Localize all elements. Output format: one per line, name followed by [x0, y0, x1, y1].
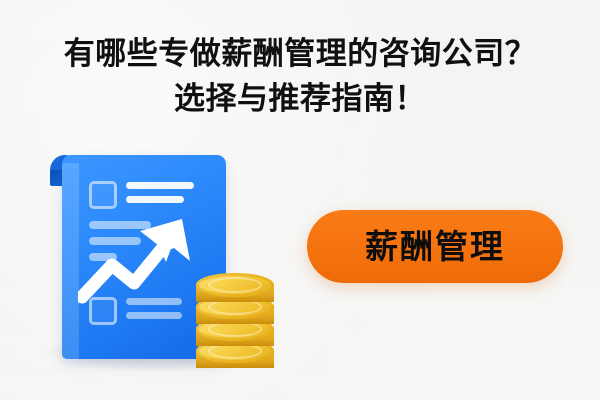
- growth-arrow-icon: [78, 213, 210, 313]
- page-title-line-1: 有哪些专做薪酬管理的咨询公司？: [0, 34, 600, 74]
- status-badge[interactable]: 薪酬管理: [307, 210, 563, 283]
- document-checkbox-icon: [89, 181, 117, 209]
- page-title-line-2: 选择与推荐指南！: [0, 79, 600, 119]
- document-text-line: [126, 182, 194, 189]
- document-spine: [62, 163, 79, 359]
- coin-stack-icon: [196, 273, 276, 365]
- poster-canvas: 有哪些专做薪酬管理的咨询公司？ 选择与推荐指南！: [0, 0, 600, 400]
- page-title: 有哪些专做薪酬管理的咨询公司？ 选择与推荐指南！: [0, 34, 600, 118]
- document-chart-coins-illustration: [38, 145, 288, 380]
- document-text-line: [126, 312, 182, 319]
- coin: [196, 273, 274, 297]
- status-badge-label: 薪酬管理: [365, 230, 505, 263]
- document-text-line: [126, 196, 184, 203]
